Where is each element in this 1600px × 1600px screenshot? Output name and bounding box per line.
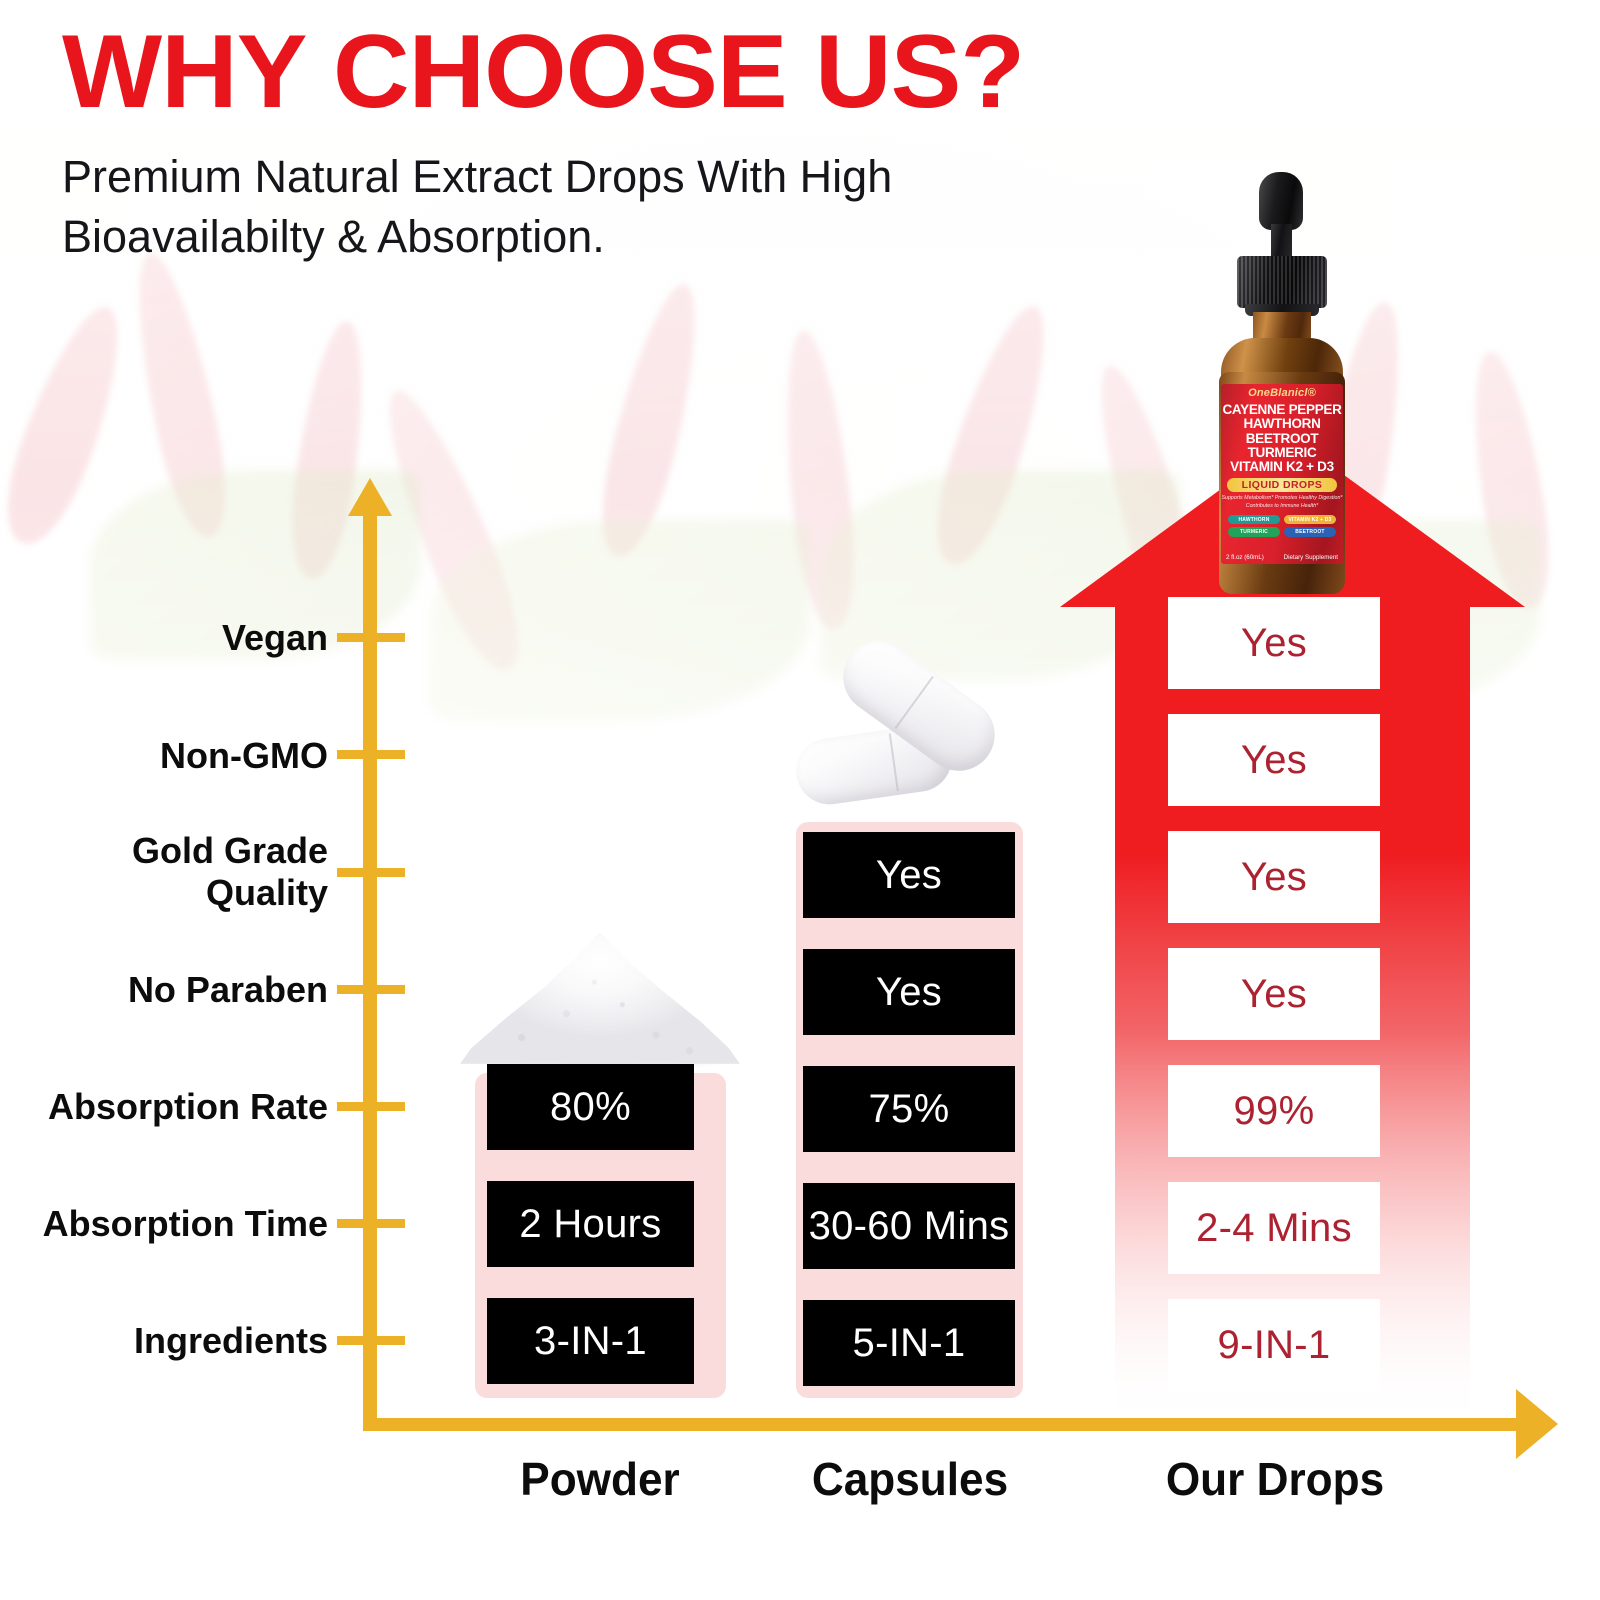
cell-powder-ingredients: 3-IN-1 bbox=[487, 1298, 694, 1384]
ingredient-pill-hawthorn: HAWTHORN bbox=[1228, 515, 1280, 525]
x-axis-label-powder: Powder bbox=[466, 1452, 735, 1506]
y-axis-tick bbox=[337, 1219, 405, 1228]
cell-our-drops-gold-grade-quality: Yes bbox=[1168, 831, 1380, 923]
cell-capsules-gold-grade-quality: Yes bbox=[803, 832, 1015, 918]
y-axis-tick bbox=[337, 750, 405, 759]
page-title: WHY CHOOSE US? bbox=[62, 18, 1041, 127]
cell-our-drops-non-gmo: Yes bbox=[1168, 714, 1380, 806]
ingredient-pill-beetroot: BEETROOT bbox=[1284, 527, 1336, 537]
cell-capsules-ingredients: 5-IN-1 bbox=[803, 1300, 1015, 1386]
product-claims: Supports Metabolism* Promotes Healthy Di… bbox=[1221, 495, 1343, 510]
ingredient-pill-vitamin-k2-d3: VITAMIN K2 + D3 bbox=[1284, 515, 1336, 525]
y-axis-tick bbox=[337, 868, 405, 877]
x-axis-line bbox=[363, 1418, 1531, 1431]
row-label-ingredients: Ingredients bbox=[134, 1320, 328, 1362]
label-footer: 2 fl.oz (60mL) Dietary Supplement bbox=[1226, 554, 1338, 561]
row-label-absorption-rate: Absorption Rate bbox=[48, 1086, 328, 1128]
row-label-gold-grade-quality: Gold Grade Quality bbox=[132, 830, 328, 914]
cell-our-drops-ingredients: 9-IN-1 bbox=[1168, 1299, 1380, 1391]
product-bottle: OneBlanicl® CAYENNE PEPPER HAWTHORN BEET… bbox=[1197, 172, 1367, 592]
y-axis-tick bbox=[337, 633, 405, 642]
y-axis-line bbox=[363, 510, 377, 1428]
cell-our-drops-absorption-rate: 99% bbox=[1168, 1065, 1380, 1157]
form-badge: LIQUID DROPS bbox=[1227, 478, 1337, 492]
cell-capsules-no-paraben: Yes bbox=[803, 949, 1015, 1035]
cell-our-drops-absorption-time: 2-4 Mins bbox=[1168, 1182, 1380, 1274]
cell-our-drops-no-paraben: Yes bbox=[1168, 948, 1380, 1040]
ingredient-pill-turmeric: TURMERIC bbox=[1228, 527, 1280, 537]
x-axis-label-our-drops: Our Drops bbox=[1141, 1452, 1410, 1506]
brand-name: OneBlanicl® bbox=[1221, 388, 1343, 399]
page-subtitle: Premium Natural Extract Drops With High … bbox=[62, 147, 1022, 266]
ingredient-pill-grid: HAWTHORN VITAMIN K2 + D3 TURMERIC BEETRO… bbox=[1228, 515, 1336, 537]
y-axis-tick bbox=[337, 1336, 405, 1345]
dropper-bulb bbox=[1259, 172, 1303, 230]
row-label-non-gmo: Non-GMO bbox=[160, 735, 328, 777]
y-axis-tick bbox=[337, 1102, 405, 1111]
cell-our-drops-vegan: Yes bbox=[1168, 597, 1380, 689]
y-axis-tick bbox=[337, 985, 405, 994]
cell-capsules-absorption-time: 30-60 Mins bbox=[803, 1183, 1015, 1269]
cell-powder-absorption-rate: 80% bbox=[487, 1064, 694, 1150]
x-axis-label-capsules: Capsules bbox=[776, 1452, 1045, 1506]
row-label-no-paraben: No Paraben bbox=[128, 969, 328, 1011]
supplement-category: Dietary Supplement bbox=[1284, 554, 1338, 561]
bottle-label: OneBlanicl® CAYENNE PEPPER HAWTHORN BEET… bbox=[1221, 384, 1343, 564]
cell-capsules-absorption-rate: 75% bbox=[803, 1066, 1015, 1152]
bottle-cap bbox=[1237, 256, 1327, 308]
product-name: CAYENNE PEPPER HAWTHORN BEETROOT TURMERI… bbox=[1221, 403, 1343, 474]
cell-powder-absorption-time: 2 Hours bbox=[487, 1181, 694, 1267]
row-label-absorption-time: Absorption Time bbox=[43, 1203, 328, 1245]
net-volume: 2 fl.oz (60mL) bbox=[1226, 554, 1264, 561]
x-axis-arrow-icon bbox=[1516, 1389, 1558, 1459]
row-label-vegan: Vegan bbox=[222, 617, 328, 659]
header: WHY CHOOSE US? Premium Natural Extract D… bbox=[62, 18, 1022, 266]
